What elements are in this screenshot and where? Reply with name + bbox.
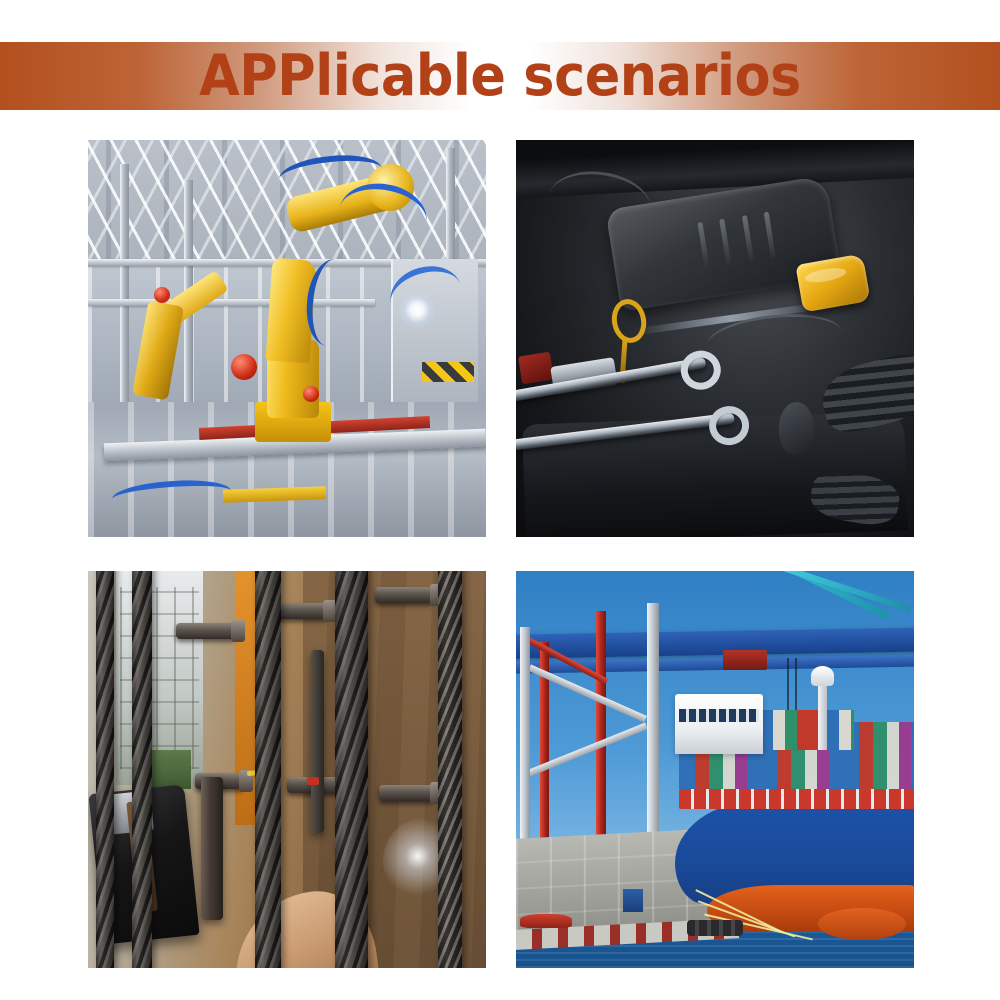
red-marker-tag [307, 777, 319, 785]
robot-red-joint [303, 386, 319, 402]
factory-roof-truss [88, 140, 486, 259]
rebar-scene [88, 571, 486, 968]
crane-leg-white [647, 603, 659, 865]
scenario-image-rebar-couplers-construction-site[interactable] [88, 571, 486, 968]
crane-leg-red [596, 611, 606, 857]
rebar-threaded-stud [176, 623, 236, 639]
dock-fender [687, 920, 743, 936]
factory-scene [88, 140, 486, 537]
rebar-coupler-sleeve [311, 650, 324, 833]
engine-knob [779, 402, 815, 454]
crane-leg-white [520, 627, 530, 865]
scenario-image-container-ship-port-terminal[interactable] [516, 571, 914, 968]
rebar-threaded-stud [375, 587, 435, 603]
ship-bulbous-bow [818, 908, 906, 940]
rebar-coupler-sleeve [201, 777, 223, 920]
engine-bay-scene [516, 140, 914, 537]
port-scene [516, 571, 914, 968]
page-title: APPlicable scenarios [40, 30, 960, 122]
rebar-threaded-stud [379, 785, 435, 801]
ship-superstructure [675, 694, 763, 754]
bridge-windows [679, 709, 759, 722]
steel-rebar [132, 571, 153, 968]
page-root: APPlicable scenarios [0, 0, 1000, 1000]
ship-mast [818, 678, 827, 749]
secondary-robot-joint [154, 287, 170, 303]
crane-spreader [723, 650, 767, 670]
ship-deck-railing [679, 789, 914, 809]
steel-rebar [335, 571, 368, 968]
steel-rebar [255, 571, 280, 968]
scenario-image-automotive-robotic-assembly-line[interactable] [88, 140, 486, 537]
red-connector [518, 352, 554, 384]
blue-dock-container [623, 889, 643, 913]
hazard-stripe-marking [422, 362, 474, 382]
steel-rebar [438, 571, 462, 968]
scenario-image-car-engine-bay-maintenance[interactable] [516, 140, 914, 537]
small-red-boat [520, 914, 572, 928]
steel-rebar [96, 571, 114, 968]
factory-column [120, 164, 129, 426]
scenario-image-grid [88, 140, 914, 968]
ship-mast-head [811, 666, 835, 686]
